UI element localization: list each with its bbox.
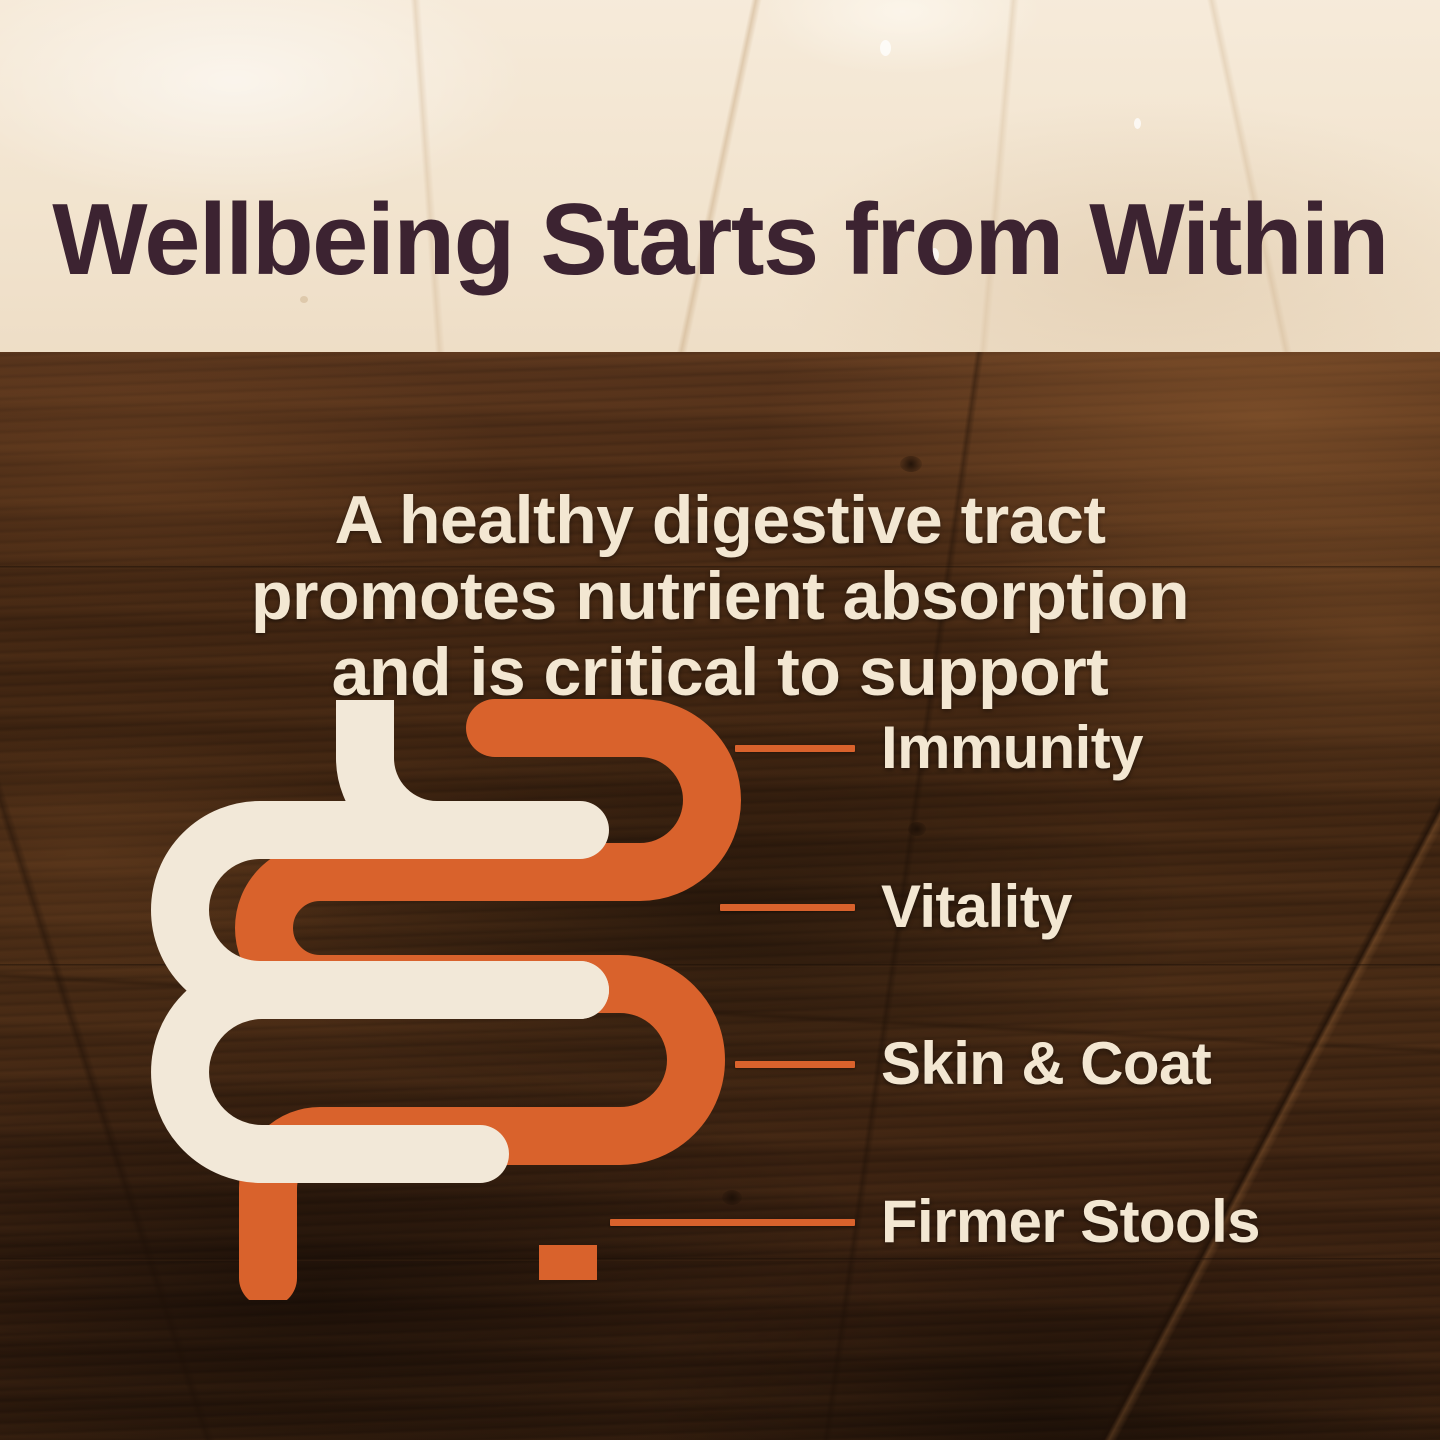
paper-speck (880, 40, 891, 56)
benefit-row-skin-and-coat[interactable]: Skin & Coat (735, 1034, 1211, 1094)
benefit-connector-line (610, 1219, 855, 1226)
paper-speck (1134, 118, 1141, 129)
header-band: Wellbeing Starts from Within (0, 0, 1440, 352)
paper-speck (300, 296, 308, 303)
benefit-row-vitality[interactable]: Vitality (720, 877, 1072, 937)
benefit-connector-line (735, 1061, 855, 1068)
benefit-label-skin-and-coat: Skin & Coat (881, 1034, 1211, 1094)
infographic-canvas: Wellbeing Starts from Within A healthy d… (0, 0, 1440, 1440)
paper-scratches (0, 0, 1440, 352)
benefit-label-firmer-stools: Firmer Stools (881, 1192, 1260, 1252)
benefit-connector-line (735, 745, 855, 752)
wood-knot (900, 456, 922, 472)
benefit-row-firmer-stools[interactable]: Firmer Stools (610, 1192, 1260, 1252)
wood-knot (908, 822, 926, 836)
benefit-label-vitality: Vitality (881, 877, 1072, 937)
benefit-row-immunity[interactable]: Immunity (735, 718, 1143, 778)
benefit-label-immunity: Immunity (881, 718, 1143, 778)
benefit-connector-line (720, 904, 855, 911)
page-title: Wellbeing Starts from Within (0, 190, 1440, 291)
